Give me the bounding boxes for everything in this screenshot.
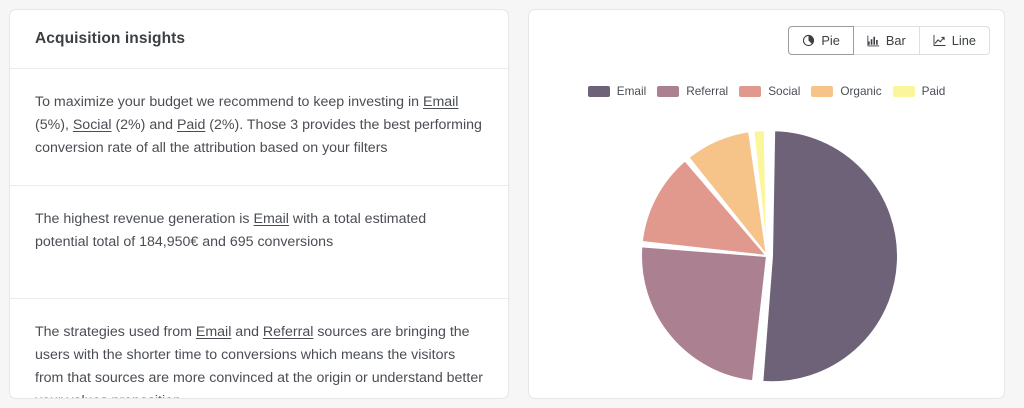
pie-chart-svg (617, 126, 917, 386)
legend-swatch-email (588, 86, 610, 97)
legend-label-referral: Referral (686, 84, 728, 98)
page-title: Acquisition insights (35, 30, 185, 48)
legend-label-email: Email (617, 84, 647, 98)
insight-text-strategies: The strategies used from Email and Refer… (35, 321, 483, 399)
chart-legend: EmailReferralSocialOrganicPaid (529, 84, 1004, 98)
insight-link[interactable]: Email (253, 211, 288, 227)
insight-row-recommendation: To maximize your budget we recommend to … (10, 69, 508, 186)
insight-text-recommendation: To maximize your budget we recommend to … (35, 91, 483, 160)
insight-text-revenue: The highest revenue generation is Email … (35, 208, 483, 254)
chart-type-bar-label: Bar (886, 33, 906, 48)
legend-label-organic: Organic (840, 84, 881, 98)
legend-swatch-referral (657, 86, 679, 97)
acquisition-insights-card: Acquisition insights To maximize your bu… (9, 9, 509, 399)
legend-label-social: Social (768, 84, 800, 98)
insight-link[interactable]: Email (196, 324, 231, 340)
chart-type-toggle-group[interactable]: Pie Bar (788, 26, 990, 55)
insight-link[interactable]: Email (423, 94, 458, 110)
pie-chart-canvas (529, 114, 1004, 398)
legend-item-organic[interactable]: Organic (811, 84, 881, 98)
legend-swatch-social (739, 86, 761, 97)
insights-card-header: Acquisition insights (10, 10, 508, 69)
insight-link[interactable]: Paid (177, 117, 205, 133)
dashboard-root: Acquisition insights To maximize your bu… (0, 0, 1024, 408)
legend-item-social[interactable]: Social (739, 84, 800, 98)
chart-type-bar-button[interactable]: Bar (854, 26, 920, 55)
chart-type-pie-label: Pie (821, 33, 840, 48)
pie-slice-referral[interactable] (641, 246, 767, 381)
bar-chart-icon (867, 34, 880, 47)
legend-swatch-paid (893, 86, 915, 97)
insight-link[interactable]: Referral (263, 324, 313, 340)
pie-chart-icon (802, 34, 815, 47)
line-chart-icon (933, 34, 946, 47)
legend-item-referral[interactable]: Referral (657, 84, 728, 98)
insight-row-strategies: The strategies used from Email and Refer… (10, 299, 508, 399)
chart-type-pie-button[interactable]: Pie (788, 26, 854, 55)
legend-item-email[interactable]: Email (588, 84, 647, 98)
acquisition-chart-card: Pie Bar (528, 9, 1005, 399)
legend-swatch-organic (811, 86, 833, 97)
pie-slice-email[interactable] (762, 130, 898, 382)
legend-item-paid[interactable]: Paid (893, 84, 946, 98)
insight-row-revenue: The highest revenue generation is Email … (10, 186, 508, 299)
chart-type-line-label: Line (952, 33, 976, 48)
legend-label-paid: Paid (922, 84, 946, 98)
insight-link[interactable]: Social (73, 117, 112, 133)
chart-type-line-button[interactable]: Line (920, 26, 990, 55)
